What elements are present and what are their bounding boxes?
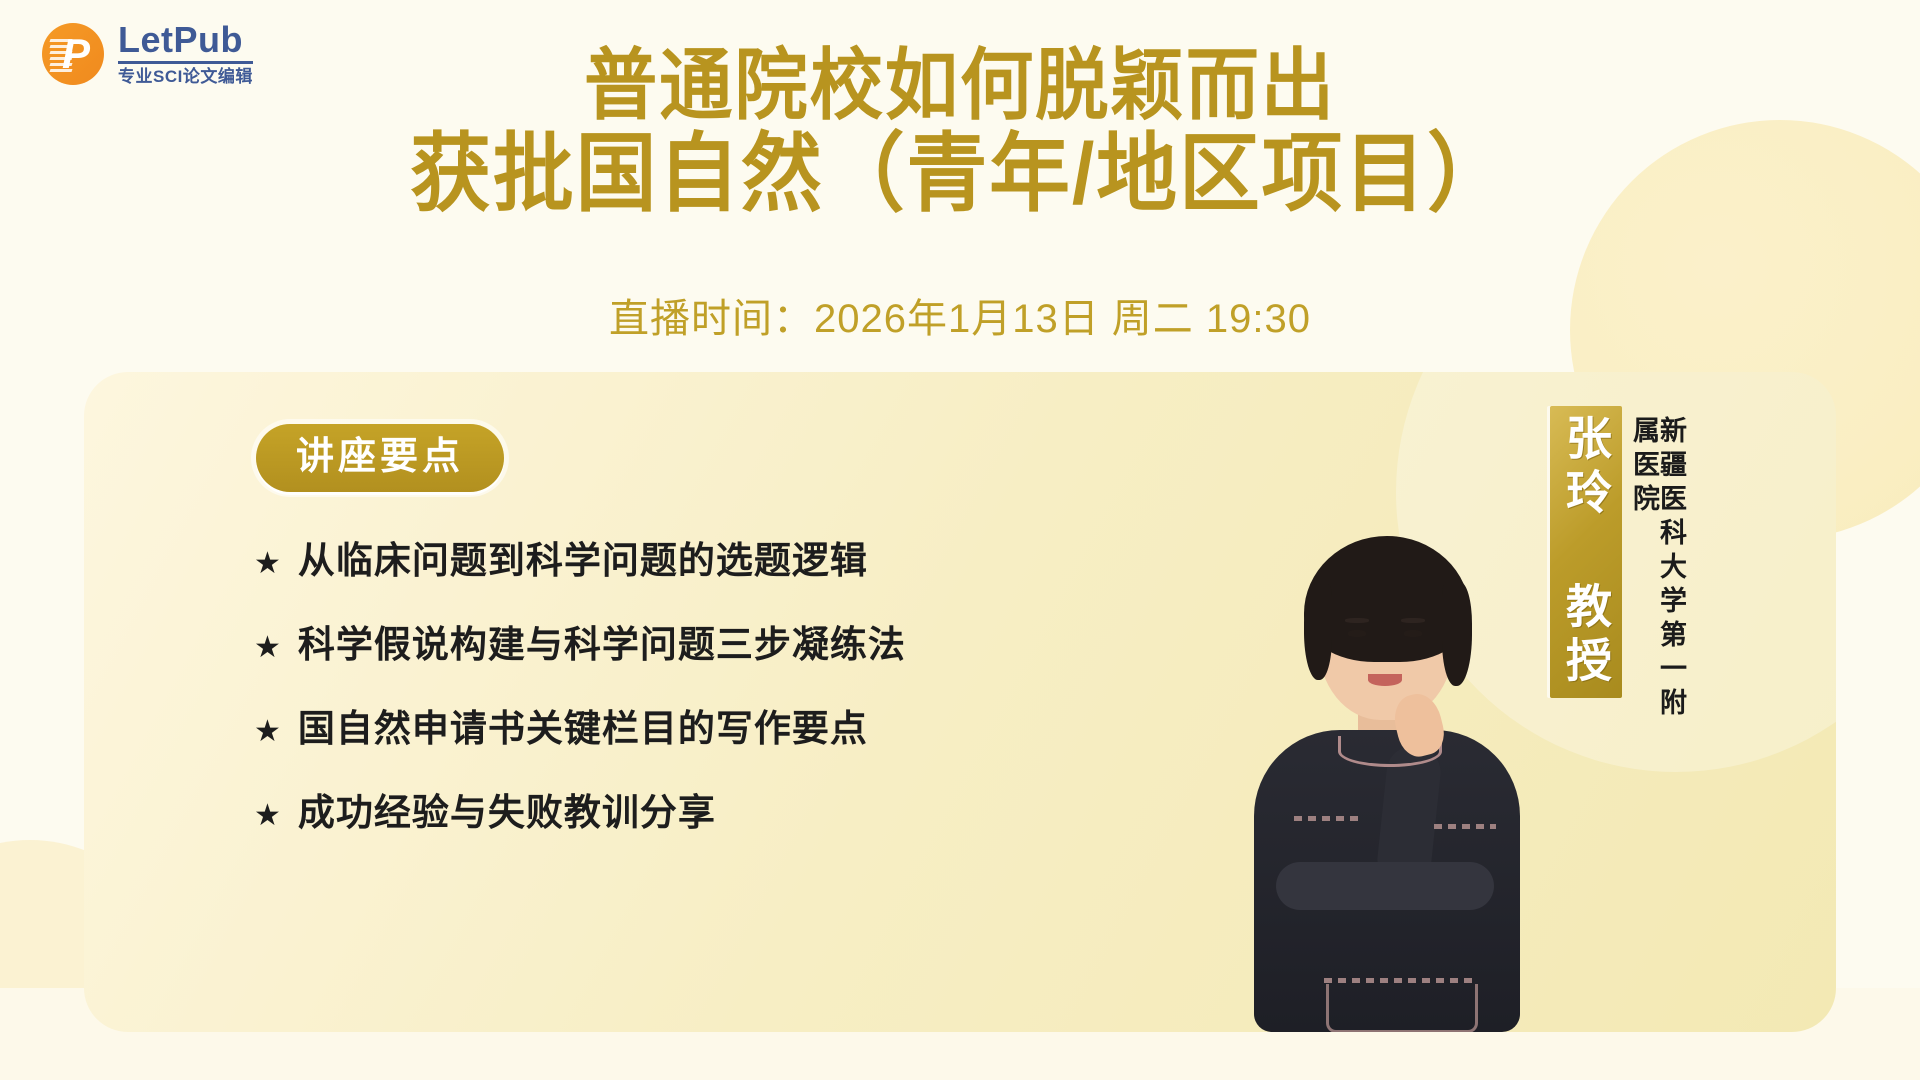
speaker-name: 张玲 教授	[1563, 414, 1609, 690]
content-card: 讲座要点 ★ 从临床问题到科学问题的选题逻辑 ★ 科学假说构建与科学问题三步凝练…	[84, 372, 1836, 1032]
broadcast-time: 直播时间：2026年1月13日 周二 19:30	[0, 286, 1920, 344]
portrait-hair-left	[1304, 584, 1332, 680]
speaker-affiliation: 新疆医科大学第一附属医院	[1630, 416, 1684, 746]
star-icon: ★	[254, 801, 282, 831]
portrait-brow-right	[1401, 618, 1425, 623]
list-item: ★ 国自然申请书关键栏目的写作要点	[254, 698, 1154, 752]
highlights-list: ★ 从临床问题到科学问题的选题逻辑 ★ 科学假说构建与科学问题三步凝练法 ★ 国…	[254, 530, 1154, 866]
portrait-trim	[1294, 816, 1364, 821]
portrait-hair-right	[1442, 582, 1472, 686]
star-icon: ★	[254, 717, 282, 747]
list-item: ★ 科学假说构建与科学问题三步凝练法	[254, 614, 1154, 668]
portrait-mouth	[1368, 674, 1402, 686]
list-item-label: 科学假说构建与科学问题三步凝练法	[298, 614, 906, 668]
portrait-eye-right	[1404, 630, 1422, 637]
star-icon: ★	[254, 633, 282, 663]
portrait-arm	[1276, 862, 1494, 910]
list-item: ★ 成功经验与失败教训分享	[254, 782, 1154, 836]
list-item-label: 从临床问题到科学问题的选题逻辑	[298, 530, 868, 584]
webinar-banner: P LetPub 专业SCI论文编辑 普通院校如何脱颖而出 获批国自然（青年/地…	[0, 0, 1920, 1080]
section-badge: 讲座要点	[256, 424, 504, 492]
page-title: 普通院校如何脱颖而出 获批国自然（青年/地区项目）	[0, 44, 1920, 220]
title-line-1: 普通院校如何脱颖而出	[58, 44, 1863, 127]
list-item-label: 成功经验与失败教训分享	[298, 782, 716, 836]
list-item-label: 国自然申请书关键栏目的写作要点	[298, 698, 868, 752]
portrait-trim	[1324, 978, 1474, 983]
list-item: ★ 从临床问题到科学问题的选题逻辑	[254, 530, 1154, 584]
portrait-trim	[1434, 824, 1496, 829]
portrait-eye-left	[1348, 630, 1366, 637]
portrait-brow-left	[1345, 618, 1369, 623]
speaker-portrait	[1220, 532, 1550, 1032]
star-icon: ★	[254, 549, 282, 579]
title-line-2: 获批国自然（青年/地区项目）	[58, 129, 1863, 220]
speaker-nameplate: 张玲 教授	[1550, 406, 1622, 698]
portrait-pocket	[1326, 984, 1478, 1032]
